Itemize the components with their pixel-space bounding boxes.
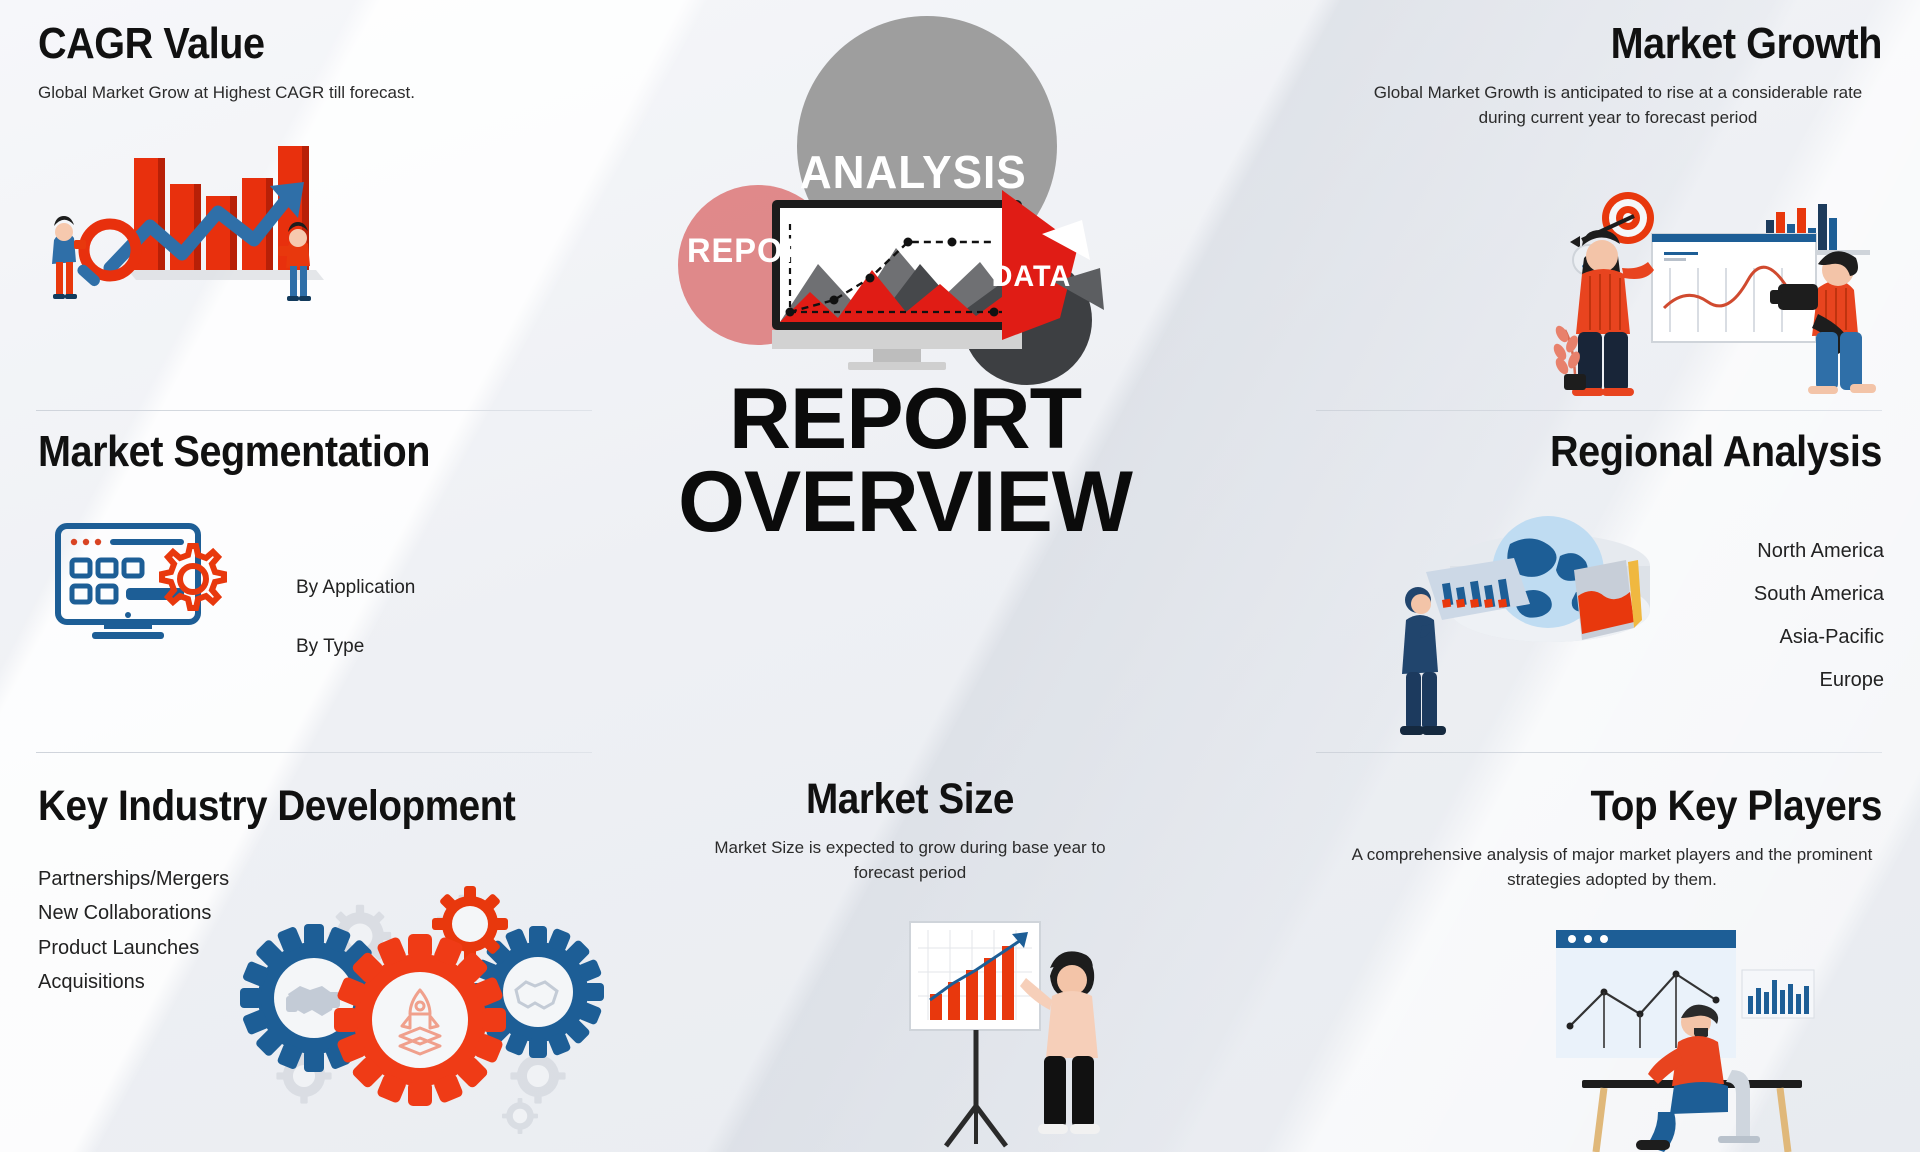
data-bubble-label: DATA xyxy=(992,260,1072,294)
bar-chart-growth-arrow-illustration xyxy=(32,128,332,318)
section-top-key-players: Top Key Players A comprehensive analysis… xyxy=(1302,785,1882,892)
presentation-people-target-illustration xyxy=(1520,198,1890,398)
market-growth-description: Global Market Growth is anticipated to r… xyxy=(1302,81,1882,130)
infographic-stage: CAGR Value Global Market Grow at Highest… xyxy=(0,0,1920,1152)
divider-left-bottom xyxy=(36,752,592,753)
market-size-description: Market Size is expected to grow during b… xyxy=(640,836,1180,885)
analysis-bubble-label: ANALYSIS xyxy=(800,145,1027,199)
gears-handshake-illustration xyxy=(248,880,608,1130)
divider-right-top xyxy=(1316,410,1882,411)
list-item: By Application xyxy=(296,572,546,605)
market-growth-heading: Market Growth xyxy=(1360,22,1882,67)
market-size-heading: Market Size xyxy=(667,778,1153,822)
globe-dashboard-illustration xyxy=(1390,500,1670,740)
section-market-growth: Market Growth Global Market Growth is an… xyxy=(1302,22,1882,130)
top-key-players-description: A comprehensive analysis of major market… xyxy=(1302,843,1882,892)
cagr-value-description: Global Market Grow at Highest CAGR till … xyxy=(38,81,558,106)
page-title-line2: OVERVIEW xyxy=(560,461,1250,544)
cagr-value-heading: CAGR Value xyxy=(38,22,506,67)
list-item: By Type xyxy=(296,631,546,664)
page-title-line1: REPORT xyxy=(560,378,1250,461)
section-market-segmentation: Market Segmentation xyxy=(38,430,598,475)
hero-graphic: ANALYSIS REPORT DATA xyxy=(690,10,1110,370)
report-bubble-label: REPORT xyxy=(687,232,829,271)
divider-left-top xyxy=(36,410,592,411)
monitor-gear-icon xyxy=(52,520,242,660)
section-cagr-value: CAGR Value Global Market Grow at Highest… xyxy=(38,22,558,106)
section-market-size: Market Size Market Size is expected to g… xyxy=(640,778,1180,885)
top-key-players-heading: Top Key Players xyxy=(1360,785,1882,829)
woman-presenting-bar-chart-illustration xyxy=(900,920,1160,1152)
divider-right-bottom xyxy=(1316,752,1882,753)
monitor-chart-icon xyxy=(772,200,1022,370)
section-key-industry-development: Key Industry Development xyxy=(38,785,678,829)
market-segmentation-items: By Application By Type xyxy=(296,572,546,663)
page-title: REPORT OVERVIEW xyxy=(560,378,1250,543)
section-regional-analysis: Regional Analysis xyxy=(1302,430,1882,475)
key-industry-development-heading: Key Industry Development xyxy=(38,785,614,829)
man-at-desk-charts-illustration xyxy=(1556,930,1886,1152)
market-segmentation-heading: Market Segmentation xyxy=(38,430,542,475)
regional-analysis-heading: Regional Analysis xyxy=(1360,430,1882,475)
